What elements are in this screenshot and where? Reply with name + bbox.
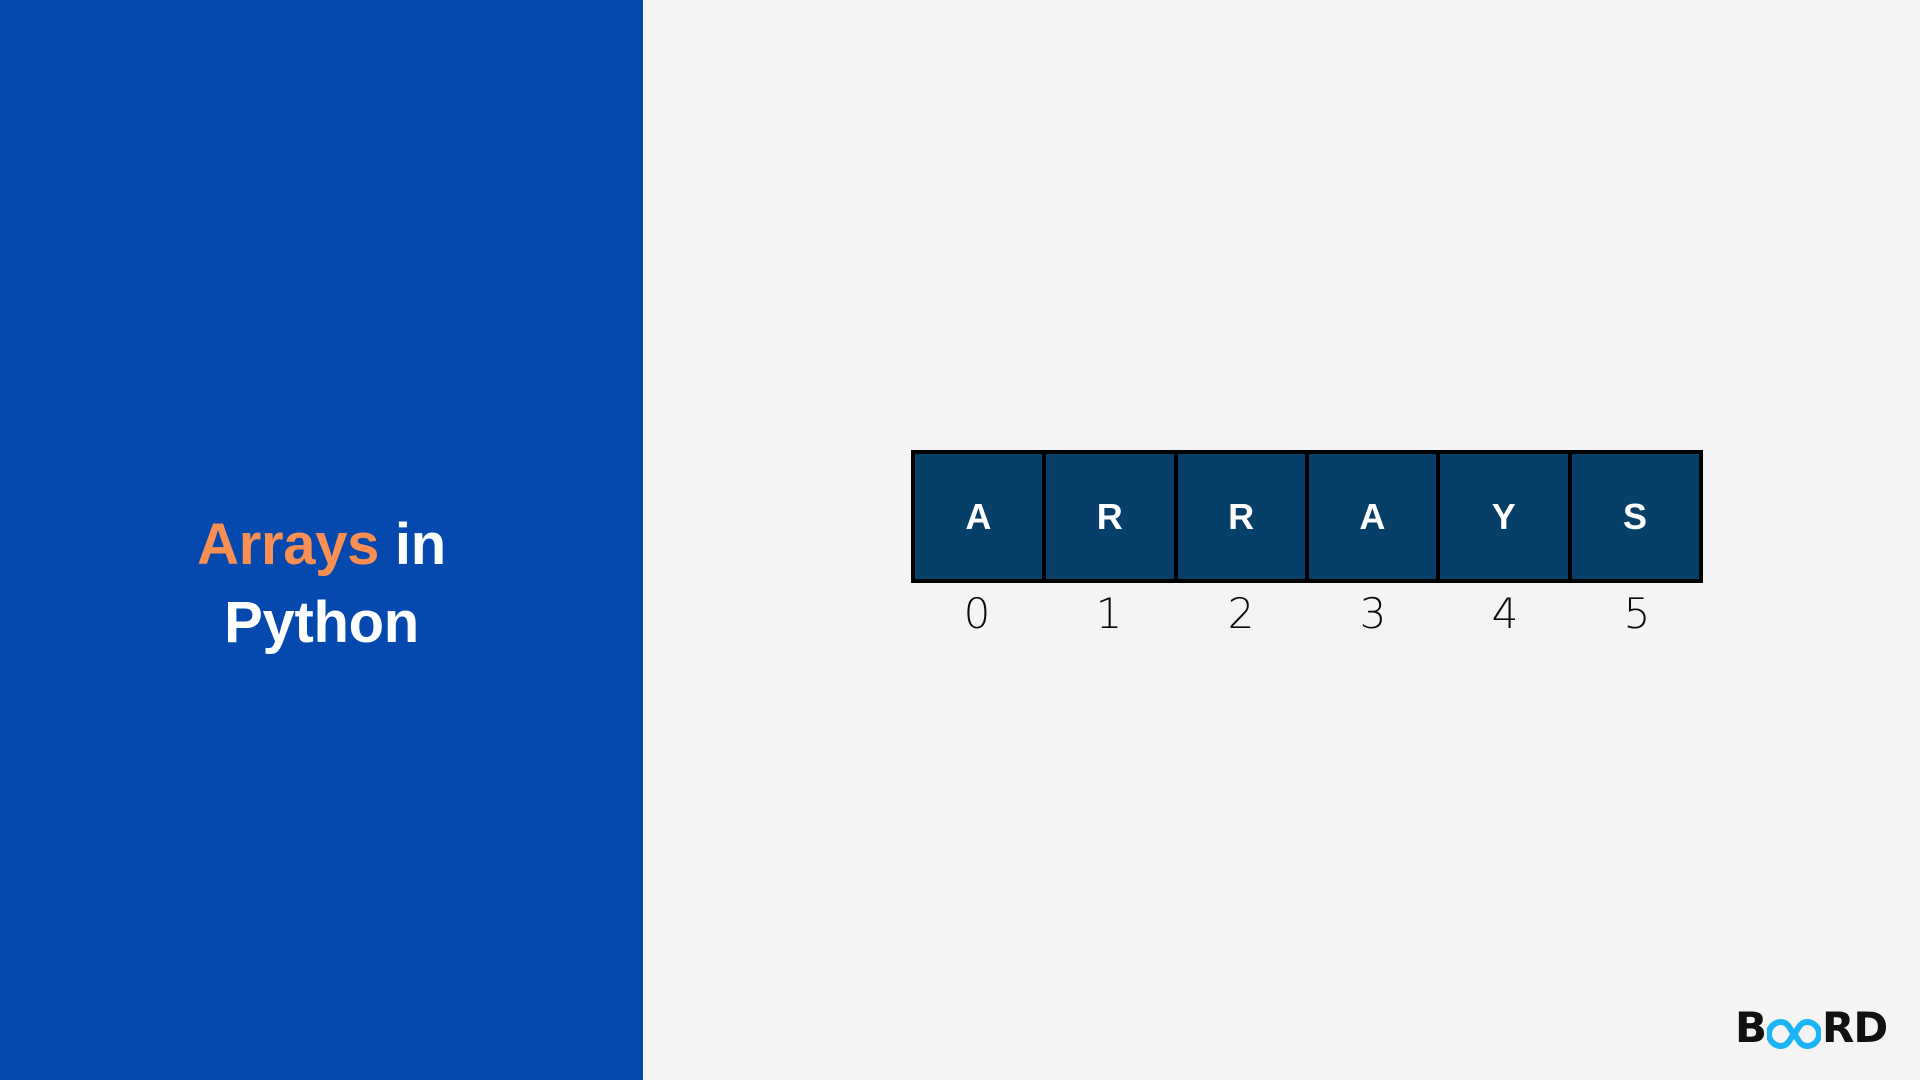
array-cell: A (915, 454, 1046, 579)
brand-logo: B RD (1735, 1004, 1887, 1052)
logo-suffix-text: RD (1822, 1007, 1887, 1049)
logo-prefix-text: B (1735, 1007, 1766, 1049)
infinity-icon (1767, 1012, 1821, 1046)
array-cell: A (1309, 454, 1440, 579)
title-second-line: Python (40, 584, 603, 662)
page-title: Arrays in Python (0, 506, 643, 663)
slide-canvas: Arrays in Python A R R A Y S 0 1 2 3 4 5… (0, 0, 1920, 1080)
title-accent-word: Arrays (197, 512, 379, 577)
array-cell: S (1572, 454, 1699, 579)
array-cell: R (1178, 454, 1309, 579)
array-cell: R (1046, 454, 1177, 579)
array-index-label: 5 (1571, 591, 1703, 637)
array-index-row: 0 1 2 3 4 5 (911, 591, 1703, 637)
array-cell: Y (1440, 454, 1571, 579)
array-diagram: A R R A Y S 0 1 2 3 4 5 (911, 450, 1703, 637)
array-index-label: 3 (1307, 591, 1439, 637)
title-panel: Arrays in Python (0, 0, 643, 1080)
array-index-label: 1 (1043, 591, 1175, 637)
array-cells-row: A R R A Y S (911, 450, 1703, 583)
array-index-label: 4 (1439, 591, 1571, 637)
array-index-label: 0 (911, 591, 1043, 637)
array-index-label: 2 (1175, 591, 1307, 637)
title-plain-word: in (379, 512, 446, 577)
